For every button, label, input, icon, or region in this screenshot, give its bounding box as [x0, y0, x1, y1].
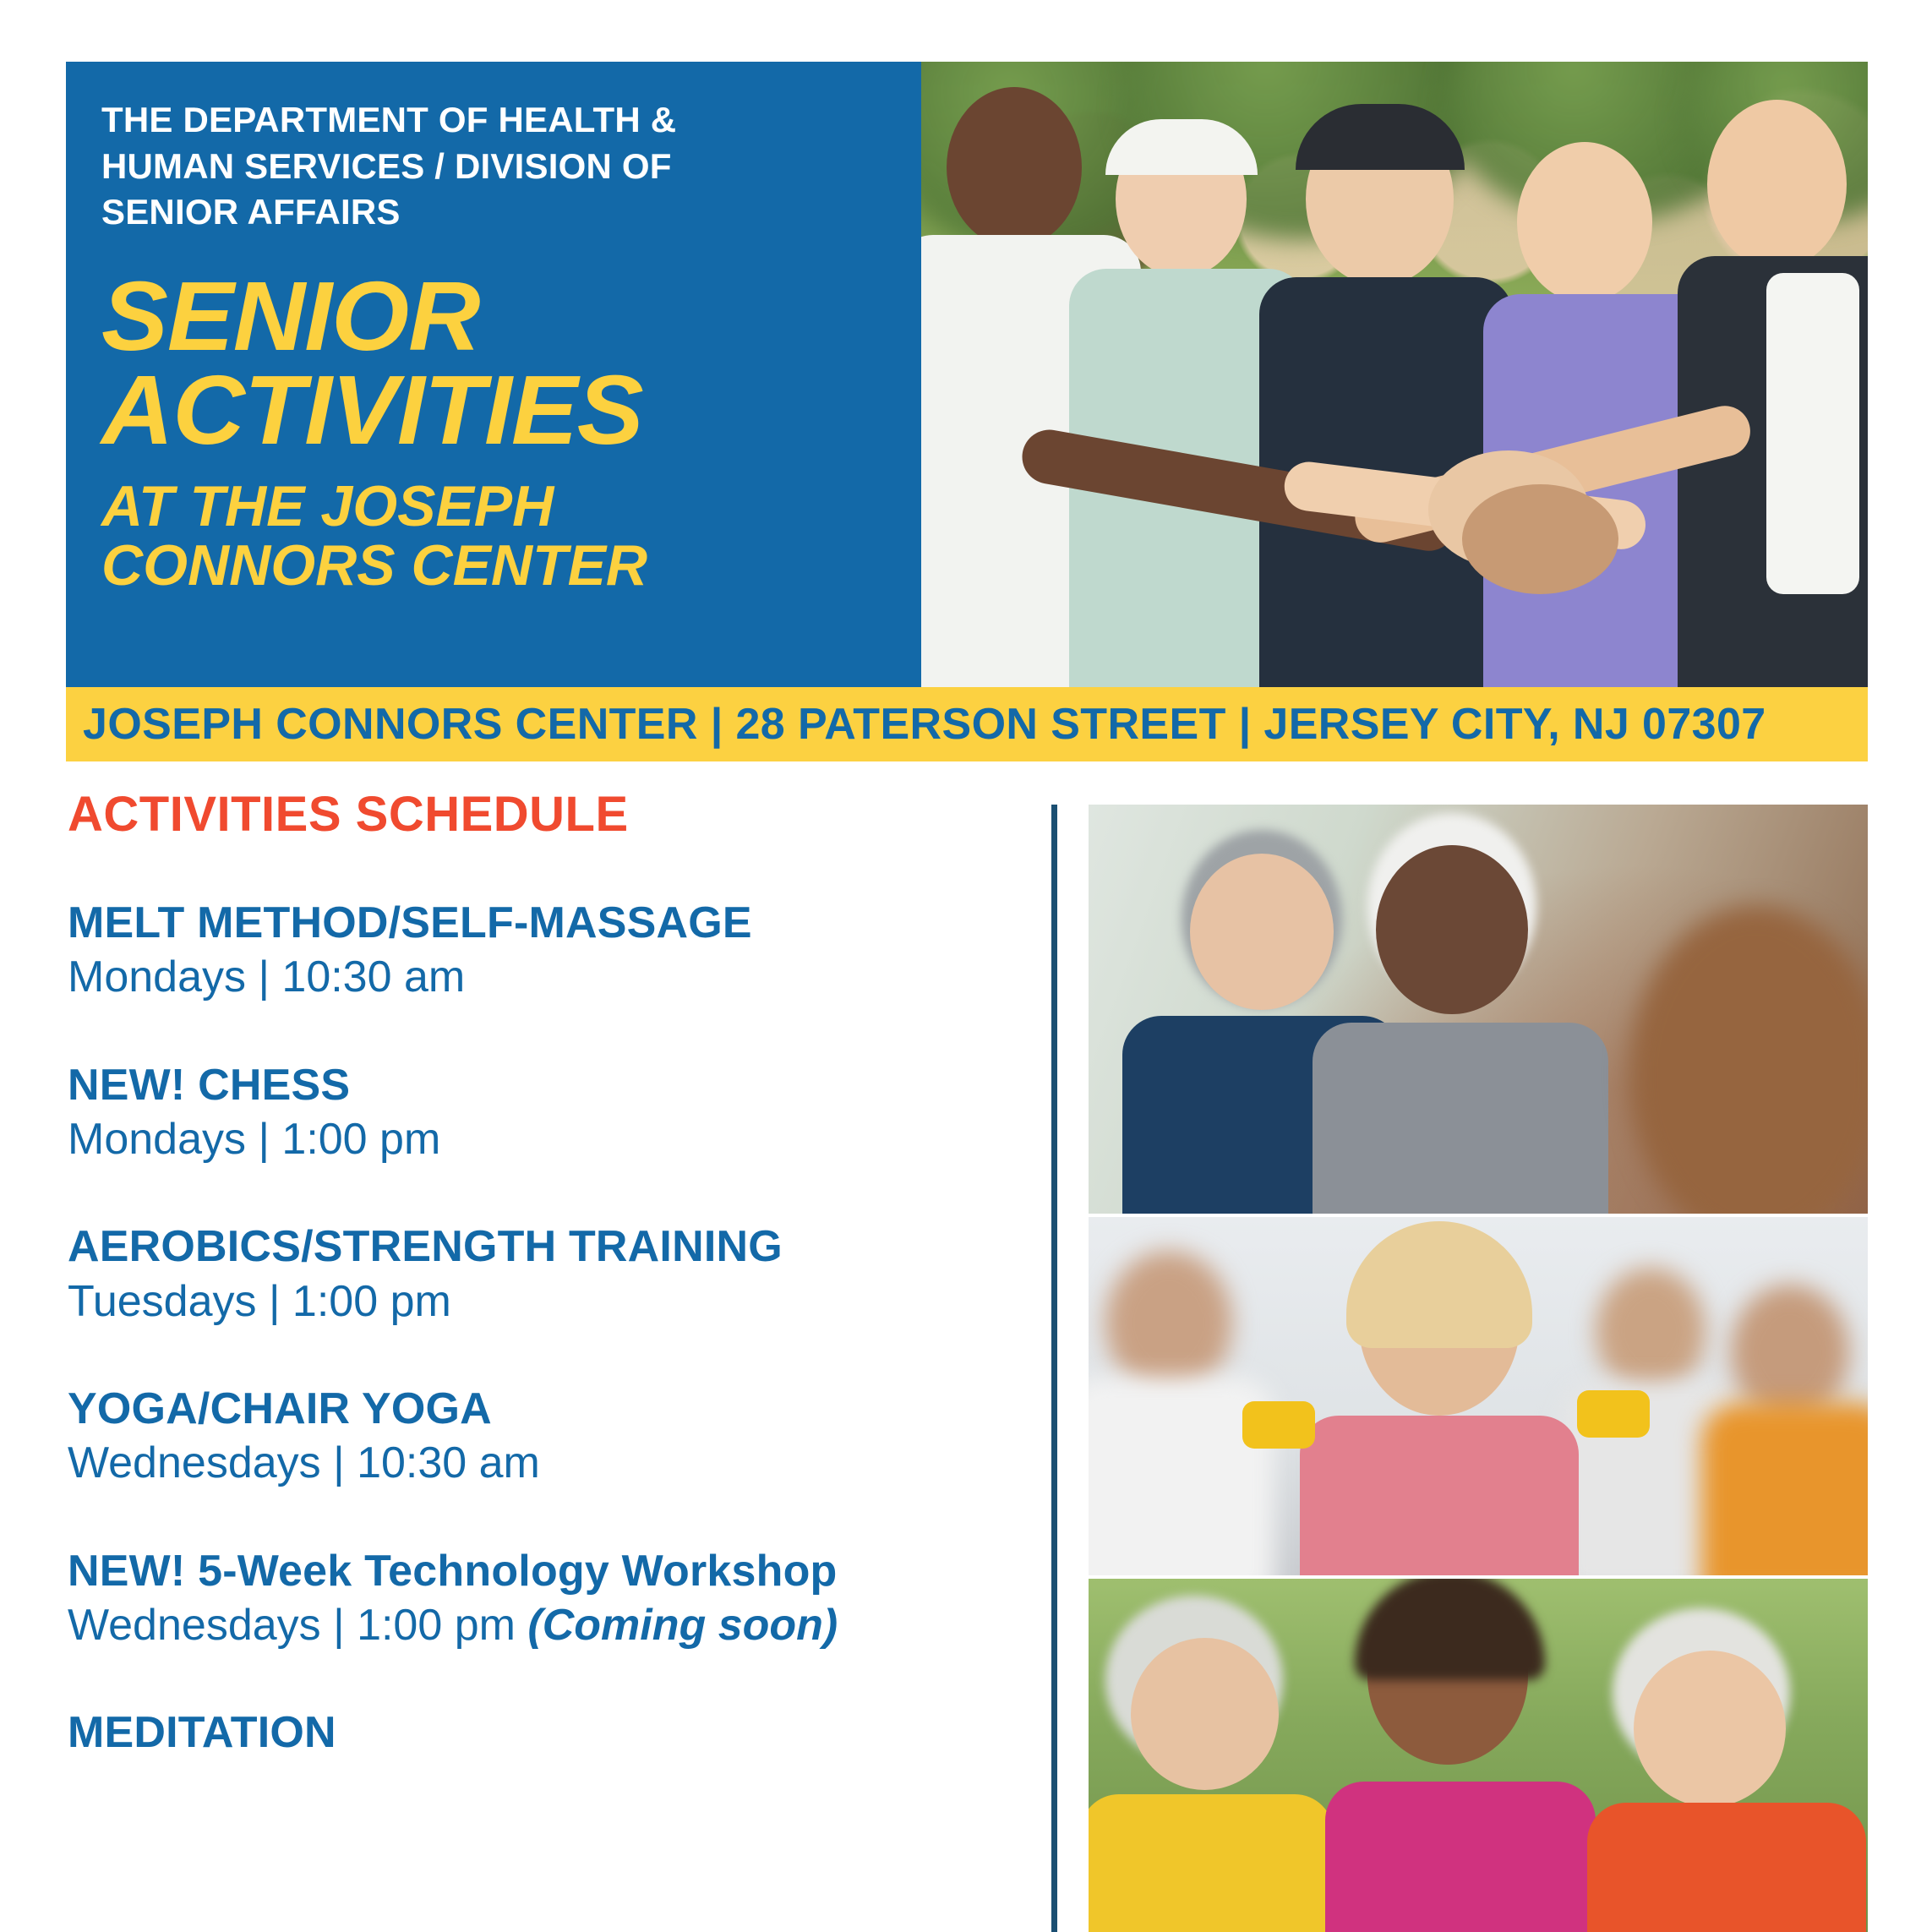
activity-time-text: Mondays | 10:30 am	[68, 952, 465, 1001]
activity-item: NEW! 5-Week Technology Workshop Wednesda…	[68, 1547, 1040, 1653]
activity-name: NEW! CHESS	[68, 1061, 1040, 1110]
photo-seniors-hugging	[1089, 1579, 1868, 1932]
activity-name: MEDITATION	[68, 1708, 1040, 1757]
header-blue-panel: THE DEPARTMENT OF HEALTH & HUMAN SERVICE…	[66, 62, 921, 687]
activity-name: YOGA/CHAIR YOGA	[68, 1384, 1040, 1433]
vertical-divider	[1051, 805, 1057, 1932]
activity-name: MELT METHOD/SELF-MASSAGE	[68, 898, 1040, 947]
activity-time: Wednesdays | 1:00 pm (Coming soon)	[68, 1599, 1040, 1652]
photo-seniors-outdoors	[1089, 805, 1868, 1214]
address-bar: JOSEPH CONNORS CENTER | 28 PATERSON STRE…	[66, 687, 1868, 761]
photo-senior-with-dumbbells	[1089, 1217, 1868, 1575]
activity-time: Mondays | 1:00 pm	[68, 1113, 1040, 1166]
activity-item: MEDITATION	[68, 1708, 1040, 1757]
schedule-heading: ACTIVITIES SCHEDULE	[68, 786, 1040, 843]
activity-name: NEW! 5-Week Technology Workshop	[68, 1547, 1040, 1596]
activity-time-text: Wednesdays | 10:30 am	[68, 1438, 540, 1487]
activity-time: Tuesdays | 1:00 pm	[68, 1275, 1040, 1329]
activity-item: AEROBICS/STRENGTH TRAINING Tuesdays | 1:…	[68, 1222, 1040, 1329]
page-title: SENIOR ACTIVITIES	[101, 270, 903, 458]
address-text: JOSEPH CONNORS CENTER | 28 PATERSON STRE…	[83, 699, 1766, 750]
header-photo	[921, 62, 1868, 687]
activity-item: YOGA/CHAIR YOGA Wednesdays | 10:30 am	[68, 1384, 1040, 1491]
activity-note: (Coming soon)	[527, 1601, 838, 1650]
activity-time-text: Wednesdays | 1:00 pm	[68, 1601, 527, 1650]
activity-time: Mondays | 10:30 am	[68, 951, 1040, 1004]
activity-name: AEROBICS/STRENGTH TRAINING	[68, 1222, 1040, 1271]
page-subtitle: AT THE JOSEPH CONNORS CENTER	[101, 477, 887, 596]
activity-time-text: Mondays | 1:00 pm	[68, 1115, 440, 1164]
activity-time: Wednesdays | 10:30 am	[68, 1437, 1040, 1490]
department-name: THE DEPARTMENT OF HEALTH & HUMAN SERVICE…	[101, 97, 887, 236]
activity-time-text: Tuesdays | 1:00 pm	[68, 1277, 451, 1326]
activity-item: NEW! CHESS Mondays | 1:00 pm	[68, 1061, 1040, 1167]
activity-item: MELT METHOD/SELF-MASSAGE Mondays | 10:30…	[68, 898, 1040, 1005]
poster-header: THE DEPARTMENT OF HEALTH & HUMAN SERVICE…	[66, 62, 1868, 687]
activities-schedule-section: ACTIVITIES SCHEDULE MELT METHOD/SELF-MAS…	[68, 786, 1040, 1758]
photo-column	[1089, 805, 1868, 1932]
